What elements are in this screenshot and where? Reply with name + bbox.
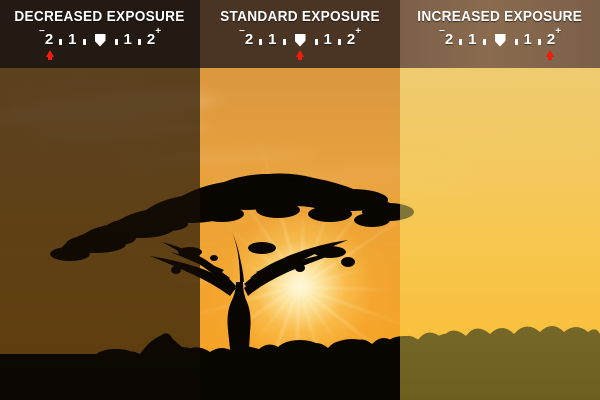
scale-value-plus-1: 1: [123, 31, 133, 48]
scale-value-minus-2: 2: [445, 31, 453, 48]
panel-standard-exposure: STANDARD EXPOSURE −2 1 1 2+: [200, 0, 400, 68]
tick-mark-icon: [259, 39, 262, 45]
exposure-scale-standard: −2 1 1 2+: [226, 29, 374, 63]
tick-mark-icon: [115, 39, 118, 45]
exposure-center-shield-icon: [95, 34, 106, 47]
scale-value-minus-2: 2: [45, 31, 53, 48]
minus-sign-icon: −: [39, 26, 45, 37]
tick-mark-icon: [515, 39, 518, 45]
panel-title-increased: INCREASED EXPOSURE: [418, 9, 583, 25]
panel-title-standard: STANDARD EXPOSURE: [220, 9, 380, 25]
exposure-scale-decreased: −2 1 1 2+: [26, 29, 174, 63]
plus-sign-icon: +: [555, 26, 561, 37]
plus-sign-icon: +: [155, 26, 161, 37]
plus-sign-icon: +: [355, 26, 361, 37]
scale-value-plus-1: 1: [323, 31, 333, 48]
tick-mark-icon: [483, 39, 486, 45]
panel-title-decreased: DECREASED EXPOSURE: [15, 9, 185, 25]
tick-mark-icon: [338, 39, 341, 45]
exposure-comparison-image: DECREASED EXPOSURE −2 1 1 2+ STANDARD EX…: [0, 0, 600, 400]
scale-value-plus-2: 2: [347, 31, 355, 48]
exposure-indicator-arrow-icon: [46, 50, 54, 57]
exposure-indicator-arrow-icon: [546, 50, 554, 57]
tick-mark-icon: [538, 39, 541, 45]
minus-sign-icon: −: [439, 26, 445, 37]
scale-value-minus-1: 1: [67, 31, 77, 48]
exposure-center-shield-icon: [295, 34, 306, 47]
exposure-label-bar: DECREASED EXPOSURE −2 1 1 2+ STANDARD EX…: [0, 0, 600, 68]
panel-decreased-exposure: DECREASED EXPOSURE −2 1 1 2+: [0, 0, 200, 68]
scale-value-minus-2: 2: [245, 31, 253, 48]
tick-mark-icon: [459, 39, 462, 45]
exposure-scale-increased: −2 1 1 2+: [426, 29, 574, 63]
tick-mark-icon: [83, 39, 86, 45]
exposure-indicator-arrow-icon: [296, 50, 304, 57]
scale-value-plus-2: 2: [547, 31, 555, 48]
scale-value-minus-1: 1: [267, 31, 277, 48]
scale-value-minus-1: 1: [467, 31, 477, 48]
tick-mark-icon: [59, 39, 62, 45]
tick-mark-icon: [138, 39, 141, 45]
exposure-center-shield-icon: [495, 34, 506, 47]
tick-mark-icon: [315, 39, 318, 45]
scale-value-plus-1: 1: [523, 31, 533, 48]
panel-increased-exposure: INCREASED EXPOSURE −2 1 1 2+: [400, 0, 600, 68]
tick-mark-icon: [283, 39, 286, 45]
minus-sign-icon: −: [239, 26, 245, 37]
scale-value-plus-2: 2: [147, 31, 155, 48]
